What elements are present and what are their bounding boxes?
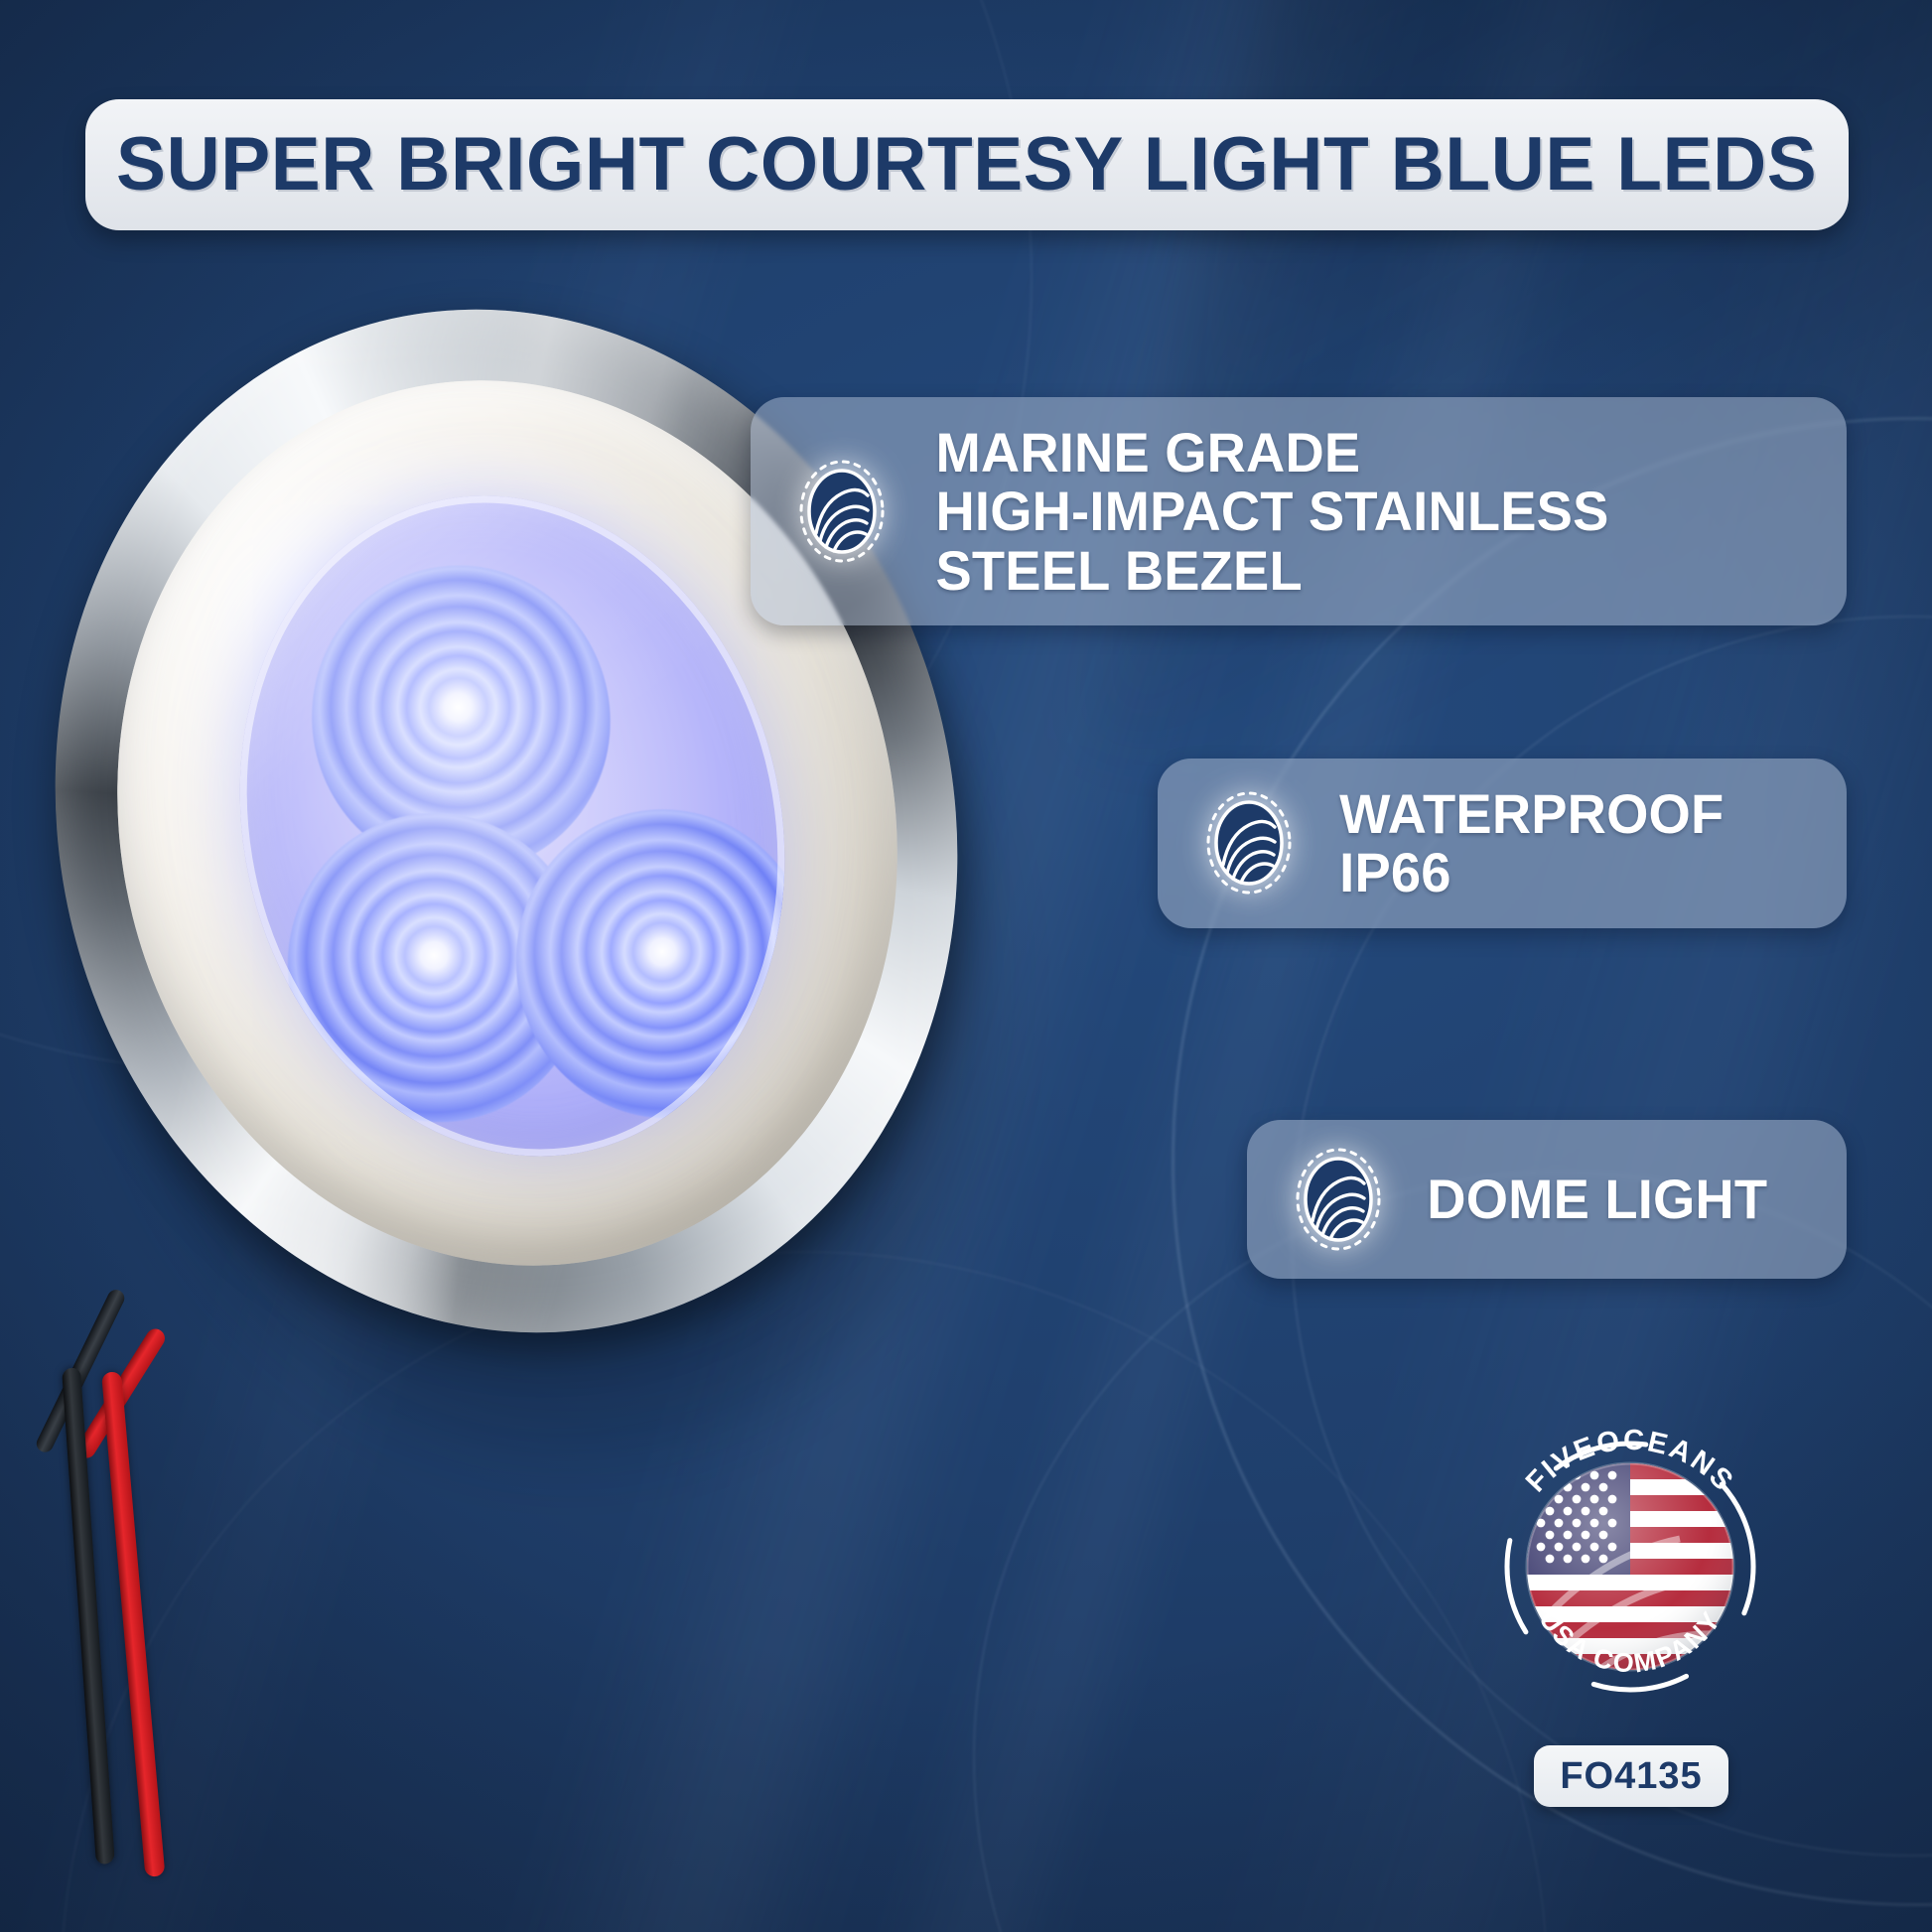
page-title: SUPER BRIGHT COURTESY LIGHT BLUE LEDS	[116, 127, 1817, 203]
wave-badge-icon	[1203, 789, 1295, 897]
wave-badge-icon	[1293, 1146, 1384, 1253]
feature-label: MARINE GRADE HIGH-IMPACT STAINLESS STEEL…	[935, 423, 1608, 600]
wave-badge-icon	[796, 458, 888, 565]
title-banner: SUPER BRIGHT COURTESY LIGHT BLUE LEDS	[85, 99, 1849, 230]
feature-label: WATERPROOF IP66	[1339, 784, 1800, 902]
feature-callout: WATERPROOF IP66	[1158, 759, 1847, 928]
sku-code: FO4135	[1560, 1755, 1702, 1798]
feature-label: DOME LIGHT	[1427, 1170, 1767, 1228]
product-marketing-image: SUPER BRIGHT COURTESY LIGHT BLUE LEDS	[0, 0, 1932, 1932]
feature-callout: MARINE GRADE HIGH-IMPACT STAINLESS STEEL…	[751, 397, 1847, 625]
usa-company-badge: FIVEOCEANS USA COMPANY	[1481, 1418, 1779, 1716]
feature-callout: DOME LIGHT	[1247, 1120, 1847, 1279]
sku-pill: FO4135	[1534, 1745, 1728, 1807]
